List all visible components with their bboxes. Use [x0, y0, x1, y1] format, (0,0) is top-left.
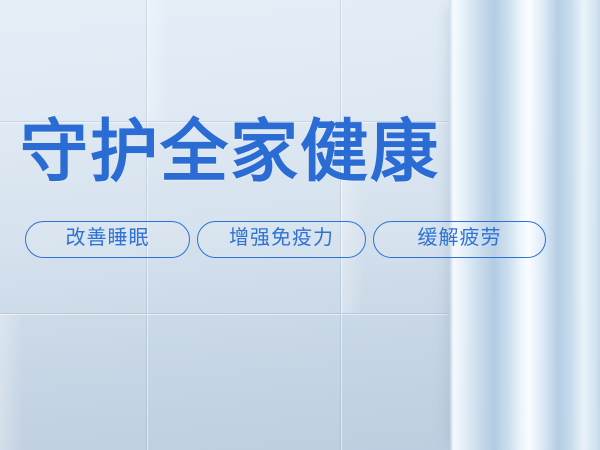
banner-content: 守护全家健康 改善睡眠 增强免疫力 缓解疲劳 — [0, 0, 600, 450]
banner-headline: 守护全家健康 — [20, 118, 440, 186]
benefit-tag-row: 改善睡眠 增强免疫力 缓解疲劳 — [25, 221, 546, 258]
benefit-tag-boost-immunity[interactable]: 增强免疫力 — [197, 221, 366, 258]
benefit-tag-relieve-fatigue[interactable]: 缓解疲劳 — [373, 221, 546, 258]
promo-banner: 守护全家健康 改善睡眠 增强免疫力 缓解疲劳 — [0, 0, 600, 450]
benefit-tag-improve-sleep[interactable]: 改善睡眠 — [25, 221, 190, 258]
